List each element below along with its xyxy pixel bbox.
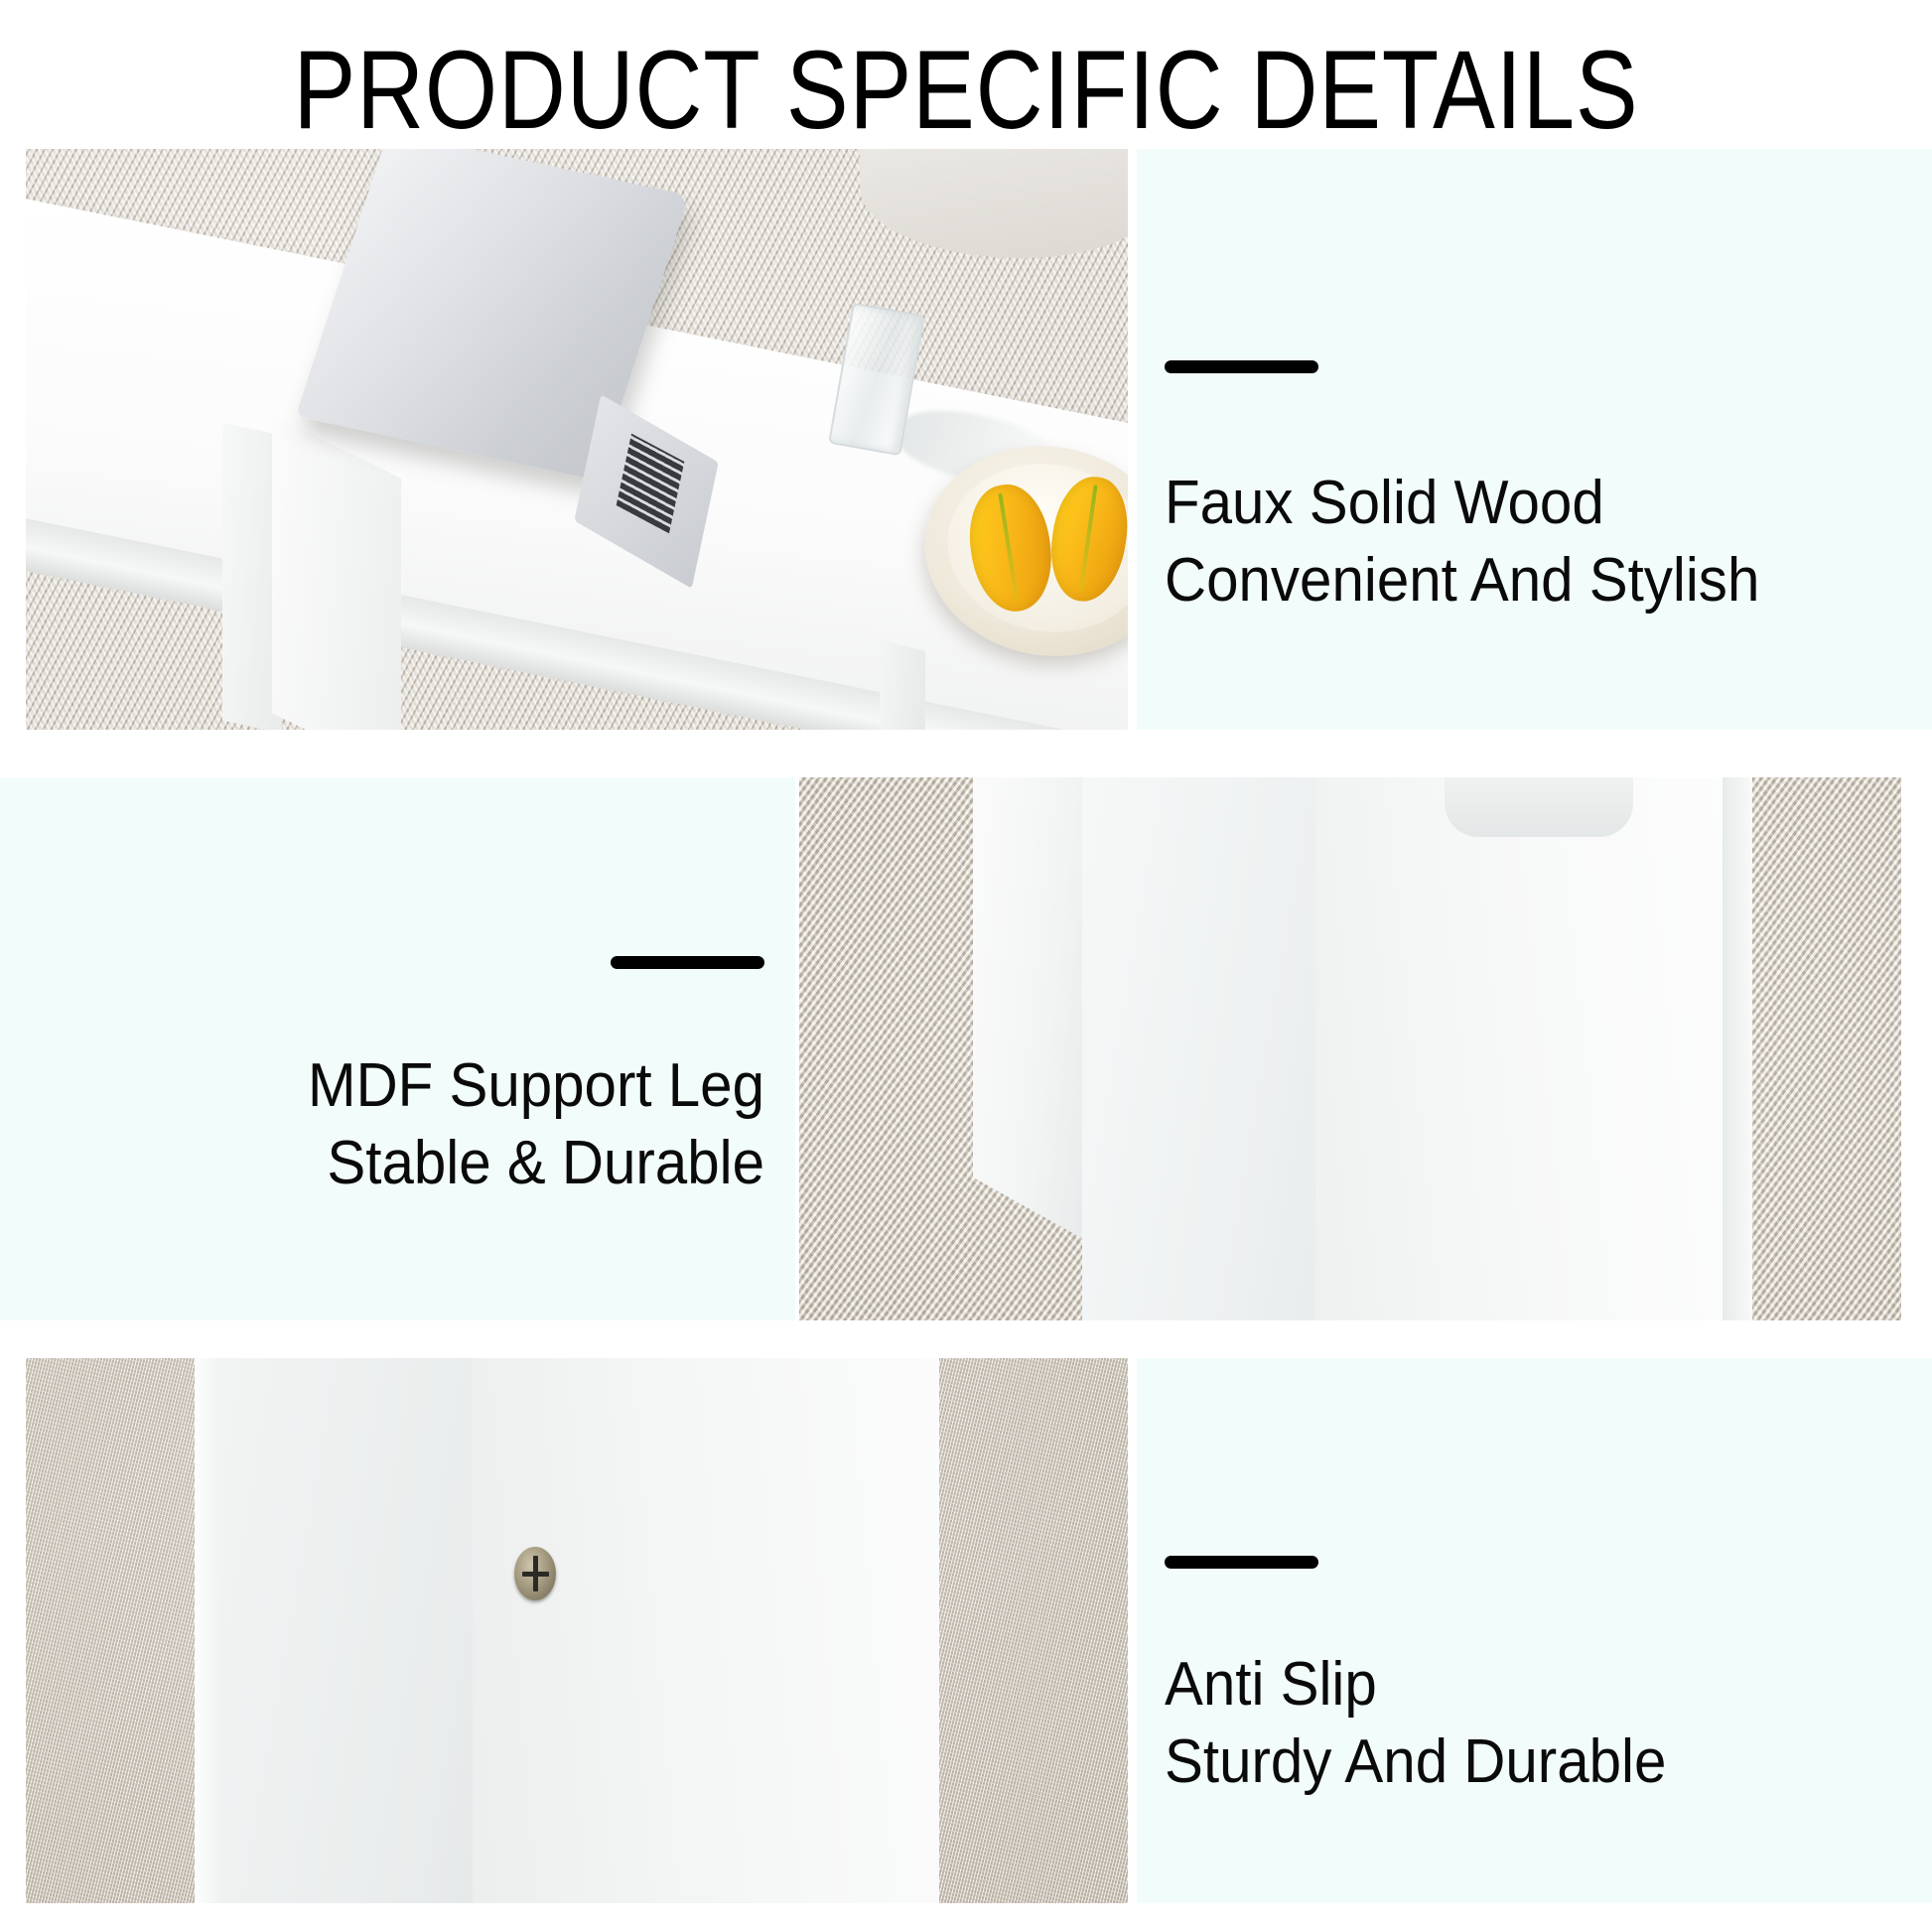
caption-panel-mdf-support-leg: MDF Support Leg Stable & Durable: [0, 777, 795, 1320]
mdf-panel-left: [1082, 777, 1320, 1320]
table-underside-detail: [1445, 777, 1633, 837]
caption-line-2: Convenient And Stylish: [1165, 542, 1873, 620]
caption-line-1: Faux Solid Wood: [1165, 465, 1873, 542]
caption-panel-anti-slip: Anti Slip Sturdy And Durable: [1137, 1358, 1932, 1903]
caption-line-1: MDF Support Leg: [56, 1047, 764, 1125]
mdf-panel-right: [1315, 777, 1732, 1320]
accent-dash-icon: [1165, 360, 1318, 373]
page-title: PRODUCT SPECIFIC DETAILS: [155, 32, 1778, 149]
mdf-panel-rear: [973, 777, 1092, 1244]
caption-line-2: Stable & Durable: [56, 1125, 764, 1202]
product-photo-anti-slip: [26, 1358, 1128, 1903]
product-photo-tabletop: [26, 149, 1128, 730]
mdf-panel-left: [219, 1358, 478, 1903]
mdf-panel-right: [473, 1358, 939, 1903]
product-photo-support-leg: [799, 777, 1901, 1320]
mdf-panel-far-edge: [1723, 777, 1752, 1320]
accent-dash-icon: [611, 956, 764, 969]
caption-panel-faux-solid-wood: Faux Solid Wood Convenient And Stylish: [1137, 149, 1932, 730]
accent-dash-icon: [1165, 1556, 1318, 1569]
table-leg-far: [880, 639, 925, 730]
caption-line-1: Anti Slip: [1165, 1646, 1873, 1724]
cam-lock-screw-icon: [514, 1547, 556, 1600]
caption-line-2: Sturdy And Durable: [1165, 1724, 1873, 1801]
